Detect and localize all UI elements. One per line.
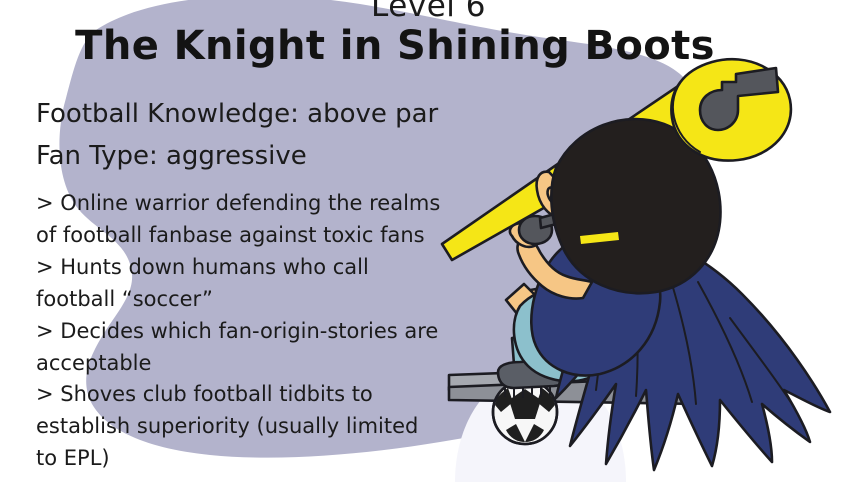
football bbox=[493, 380, 557, 444]
level-label: Level 6 bbox=[0, 0, 857, 22]
list-item: > Shoves club football tidbits to establ… bbox=[36, 379, 446, 475]
trait-list: > Online warrior defending the realms of… bbox=[36, 188, 446, 475]
stat-fan-type: Fan Type: aggressive bbox=[36, 143, 307, 169]
stat-football-knowledge: Football Knowledge: above par bbox=[36, 101, 438, 127]
list-item: > Online warrior defending the realms of… bbox=[36, 188, 446, 252]
poster-canvas: Level 6 The Knight in Shining Boots Foot… bbox=[0, 0, 857, 482]
page-title: The Knight in Shining Boots bbox=[0, 26, 790, 66]
list-item: > Decides which fan-origin-stories are a… bbox=[36, 316, 446, 380]
whistle-head bbox=[671, 59, 791, 160]
list-item: > Hunts down humans who call football “s… bbox=[36, 252, 446, 316]
